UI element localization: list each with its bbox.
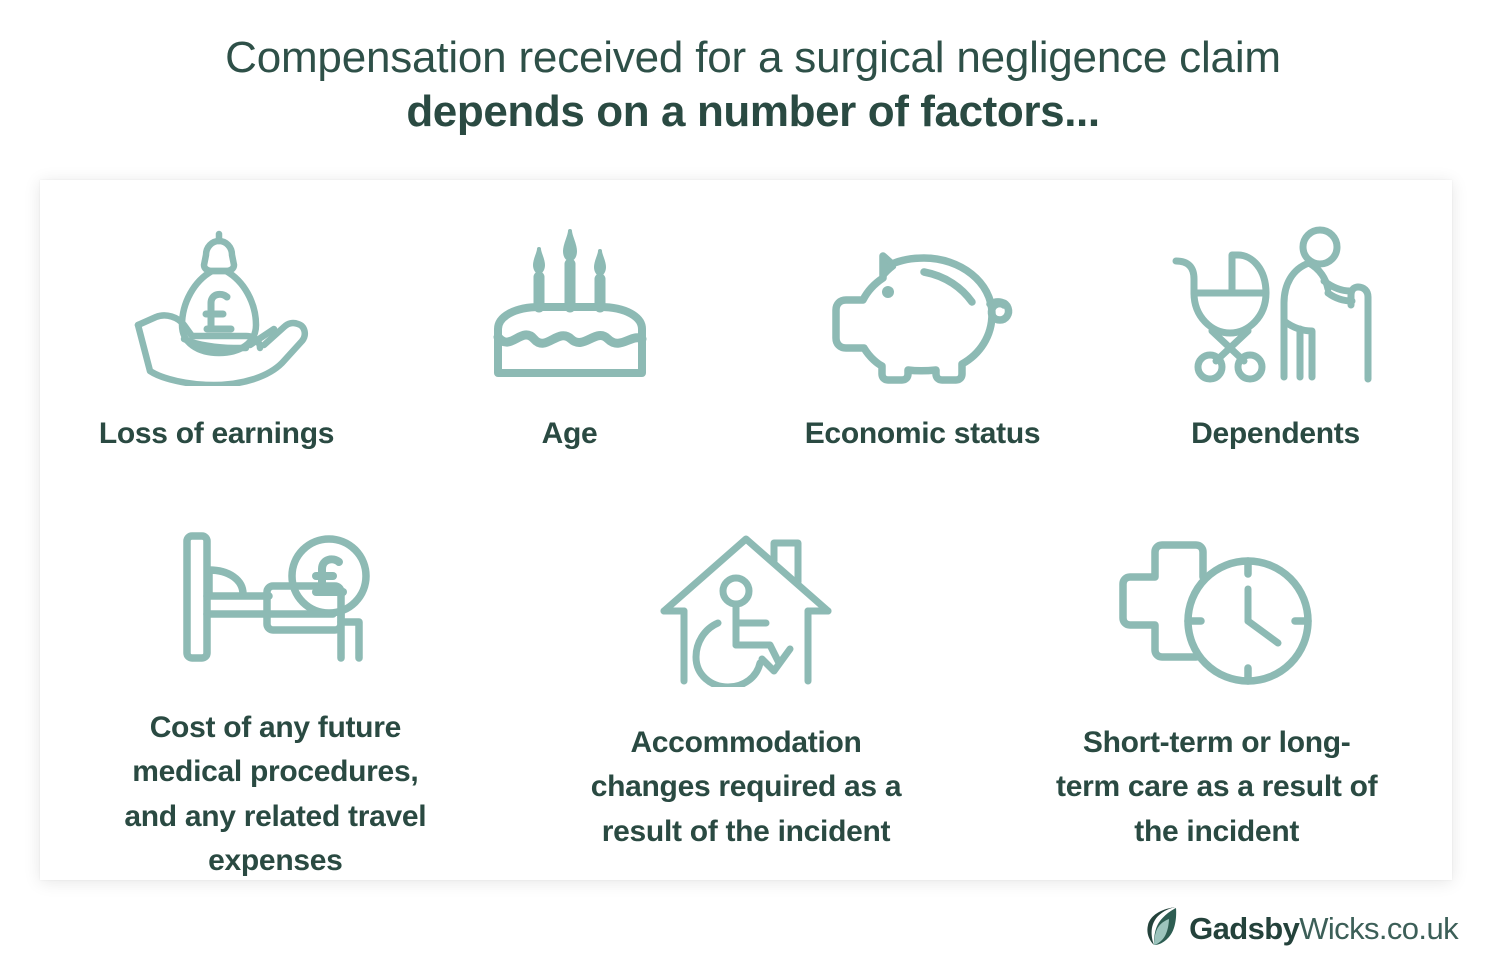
factor-label: Age (542, 412, 598, 456)
logo-wordmark: GadsbyWicks.co.uk (1189, 911, 1458, 947)
factor-label: Loss of earnings (99, 412, 334, 456)
factors-row-1: Loss of earnings (40, 180, 1452, 510)
factor-label: Cost of any future medical procedures, a… (110, 706, 440, 884)
house-wheelchair-accessibility-icon (656, 522, 836, 687)
factor-economic-status: Economic status (746, 216, 1099, 510)
factor-accommodation-changes: Accommodation changes required as a resu… (511, 522, 982, 880)
factor-label: Accommodation changes required as a resu… (581, 721, 911, 854)
factors-grid: Loss of earnings (40, 180, 1452, 880)
factor-future-medical-cost: Cost of any future medical procedures, a… (40, 522, 511, 880)
factor-label: Dependents (1191, 412, 1360, 456)
hand-holding-money-bag-pound-icon (122, 216, 312, 386)
infographic-page: Compensation received for a surgical neg… (0, 0, 1506, 970)
factors-row-2: Cost of any future medical procedures, a… (40, 510, 1452, 880)
factor-dependents: Dependents (1099, 216, 1452, 510)
leaf-icon (1145, 905, 1179, 952)
hospital-bed-pound-coin-icon (173, 522, 378, 672)
page-title: Compensation received for a surgical neg… (0, 32, 1506, 140)
factor-label: Economic status (805, 412, 1041, 456)
logo-name-light: Wicks.co.uk (1299, 911, 1458, 946)
factors-card: Loss of earnings (40, 180, 1452, 880)
page-title-line-1: Compensation received for a surgical neg… (0, 32, 1506, 84)
gadsby-wicks-logo[interactable]: GadsbyWicks.co.uk (1145, 905, 1458, 952)
page-title-line-2: depends on a number of factors... (0, 84, 1506, 140)
factor-care-duration: Short-term or long-term care as a result… (981, 522, 1452, 880)
birthday-cake-candles-icon (482, 216, 657, 386)
factor-label: Short-term or long-term care as a result… (1052, 721, 1382, 854)
pram-and-elderly-person-icon (1168, 216, 1383, 386)
medical-cross-clock-icon (1112, 522, 1322, 687)
factor-age: Age (393, 216, 746, 510)
logo-name-bold: Gadsby (1189, 911, 1299, 946)
factor-loss-of-earnings: Loss of earnings (40, 216, 393, 510)
piggy-bank-icon (820, 216, 1025, 386)
